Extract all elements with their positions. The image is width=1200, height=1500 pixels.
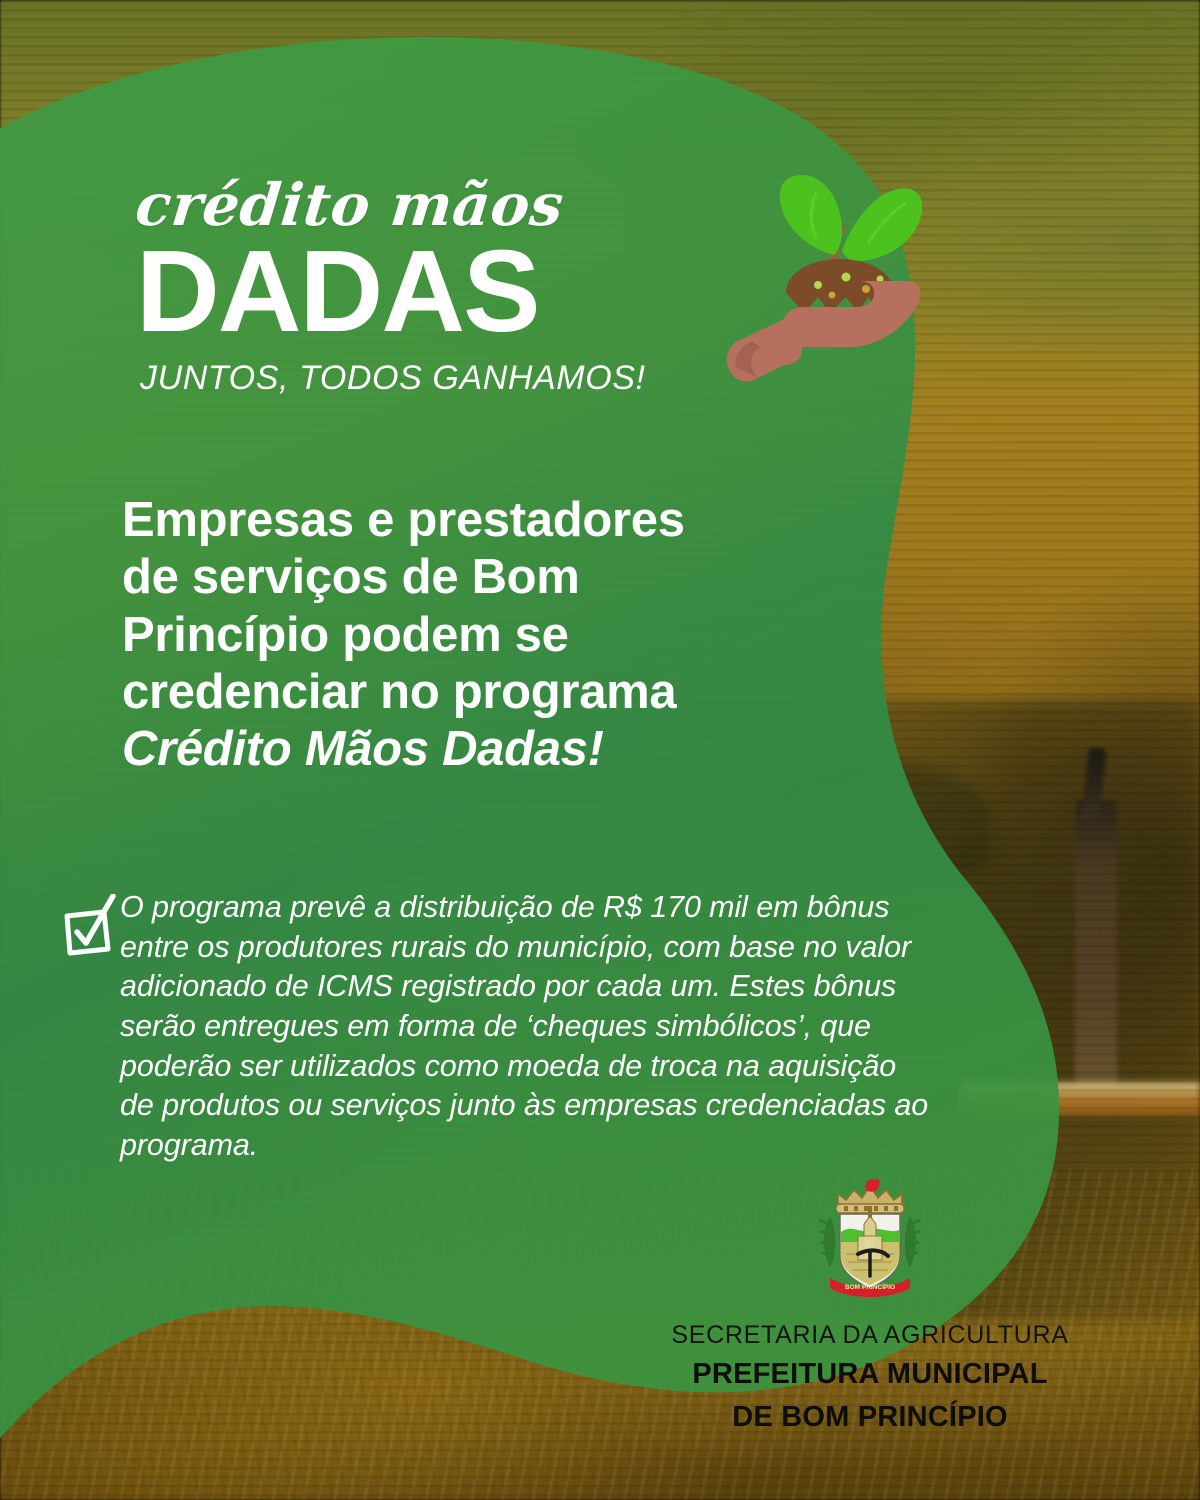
headline-program-name: Crédito Mãos Dadas!: [122, 722, 604, 776]
hand-holding-seedling-icon: [718, 145, 948, 390]
footer-secretariat: SECRETARIA DA AGRICULTURA: [660, 1320, 1080, 1351]
logo-script-line: crédito mãos: [133, 176, 699, 234]
footer-entity-line-2: DE BOM PRINCÍPIO: [660, 1399, 1080, 1437]
headline-line-4: credenciar no programa: [122, 664, 862, 721]
poster-canvas: crédito mãos DADAS JUNTOS, TODOS GANHAMO…: [0, 0, 1200, 1500]
bom-principio-coat-of-arms-icon: BOM PRINCÍPIO: [814, 1176, 926, 1302]
crest-banner-label: BOM PRINCÍPIO: [845, 1282, 895, 1291]
headline-line-2: de serviços de Bom: [122, 549, 862, 606]
checkbox-checked-icon: [58, 894, 120, 962]
headline-line-3: Princípio podem se: [122, 607, 862, 664]
program-logo: crédito mãos DADAS JUNTOS, TODOS GANHAMO…: [136, 176, 696, 398]
body-paragraph: O programa prevê a distribuição de R$ 17…: [120, 888, 938, 1165]
footer-entity-line-1: PREFEITURA MUNICIPAL: [660, 1356, 1080, 1394]
headline-line-1: Empresas e prestadores: [122, 492, 862, 549]
headline: Empresas e prestadores de serviços de Bo…: [122, 492, 862, 779]
logo-tagline: JUNTOS, TODOS GANHAMOS!: [140, 359, 696, 398]
footer: BOM PRINCÍPIO SECRETARIA DA AGRICULTURA …: [660, 1176, 1080, 1437]
body-block: O programa prevê a distribuição de R$ 17…: [58, 888, 938, 1165]
logo-main-word: DADAS: [136, 236, 696, 347]
